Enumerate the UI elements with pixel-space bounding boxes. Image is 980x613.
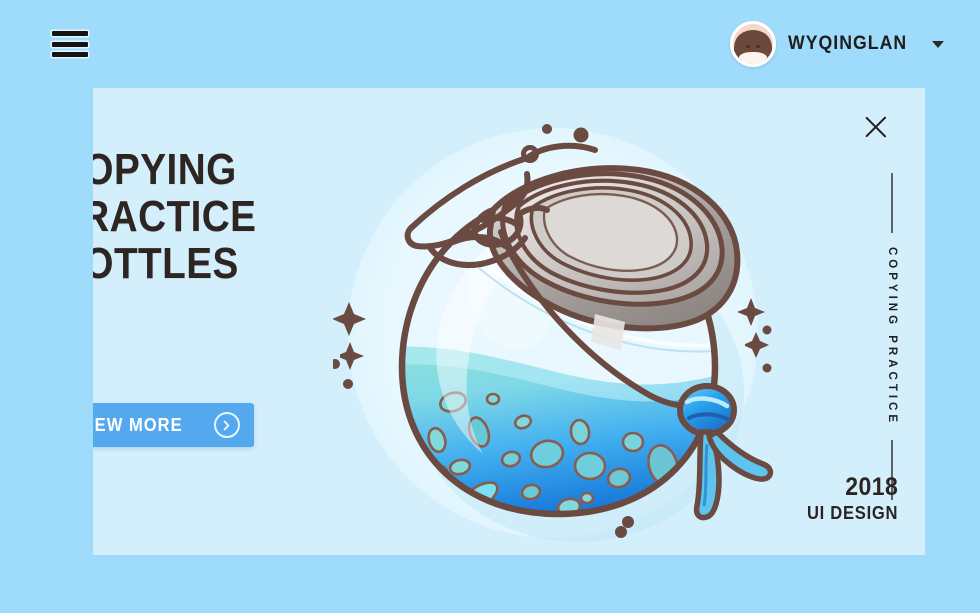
side-label-text: COPYING PRACTICE xyxy=(886,247,898,426)
hamburger-bar-3 xyxy=(52,52,88,57)
arrow-right-circle-icon xyxy=(214,412,240,438)
sparkle-right xyxy=(745,330,773,383)
top-bar: WYQINGLAN xyxy=(0,0,980,88)
hamburger-bar-2 xyxy=(52,42,88,47)
chevron-down-icon[interactable] xyxy=(932,41,944,48)
vertical-side-label: COPYING PRACTICE xyxy=(886,173,898,500)
avatar-neck xyxy=(739,52,767,64)
hero-panel: COPYING PRACTICE BOTTLES VIEW MORE COPYI… xyxy=(93,88,925,555)
dot-bottom xyxy=(620,514,636,535)
project-category: UI DESIGN xyxy=(807,502,898,525)
avatar xyxy=(730,21,776,67)
project-year: 2018 xyxy=(807,473,898,502)
project-meta: 2018 UI DESIGN xyxy=(799,473,898,525)
username-label: WYQINGLAN xyxy=(788,33,907,55)
dot-top-small xyxy=(540,122,554,141)
hamburger-bar-1 xyxy=(52,31,88,36)
sparkle-left xyxy=(340,340,364,395)
view-more-label: VIEW MORE xyxy=(93,415,183,436)
side-label-line-top xyxy=(891,173,893,233)
hamburger-menu-icon[interactable] xyxy=(52,31,88,57)
dot-top-large xyxy=(572,126,590,149)
close-x-icon[interactable] xyxy=(863,114,889,140)
user-menu[interactable]: WYQINGLAN xyxy=(730,21,944,67)
glass-bottle-illustration xyxy=(333,102,783,552)
view-more-button[interactable]: VIEW MORE xyxy=(93,403,254,447)
page-title-line-1: COPYING PRACTICE xyxy=(93,145,256,241)
